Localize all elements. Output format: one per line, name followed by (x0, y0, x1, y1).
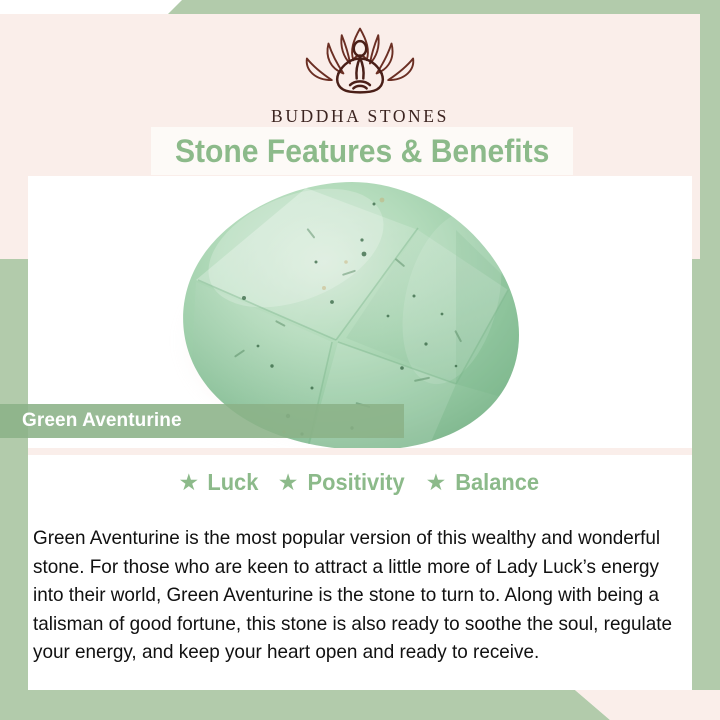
star-icon: ★ (426, 471, 447, 494)
page-title: Stone Features & Benefits (175, 133, 549, 170)
benefit-positivity: ★ Positivity (278, 469, 408, 496)
stone-name-label: Green Aventurine (22, 410, 182, 432)
lotus-meditation-figure-icon (276, 22, 444, 100)
benefit-balance: ★ Balance (426, 469, 542, 496)
description-card: ★ Luck ★ Positivity ★ Balance Green Aven… (28, 455, 692, 690)
benefit-luck: ★ Luck (178, 469, 259, 496)
brand-logo: BUDDHA STONES (0, 22, 720, 127)
star-icon: ★ (278, 471, 299, 494)
star-icon: ★ (178, 471, 199, 494)
stone-description-text: Green Aventurine is the most popular ver… (33, 524, 675, 667)
benefit-label-luck: Luck (207, 469, 258, 496)
benefit-label-positivity: Positivity (308, 469, 405, 496)
benefit-label-balance: Balance (456, 469, 540, 496)
benefits-row: ★ Luck ★ Positivity ★ Balance (28, 469, 692, 496)
title-banner: Stone Features & Benefits (151, 127, 573, 175)
stone-caption-bar: Green Aventurine (0, 404, 404, 438)
decor-blush-rule (28, 448, 692, 455)
brand-wordmark: BUDDHA STONES (0, 106, 720, 127)
stone-features-poster: BUDDHA STONES Stone Features & Benefits (0, 0, 720, 720)
